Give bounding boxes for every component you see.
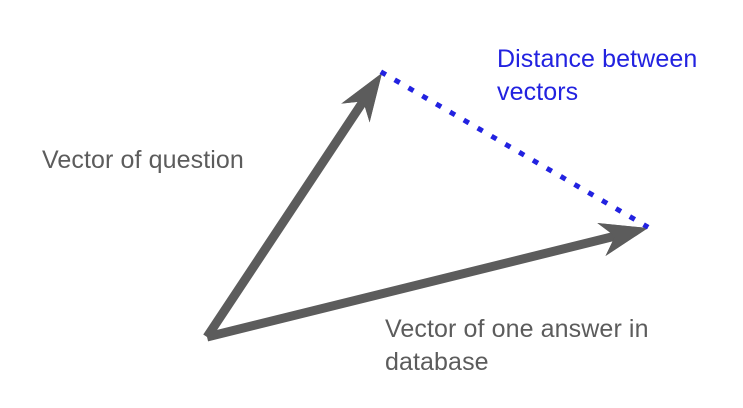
label-distance-between-vectors: Distance between vectors: [497, 43, 721, 108]
vector-question-arrowhead-body: [341, 73, 382, 122]
label-vector-of-question: Vector of question: [42, 144, 244, 177]
label-vector-of-answer: Vector of one answer in database: [385, 313, 685, 378]
diagram-canvas: Vector of question Vector of one answer …: [0, 0, 743, 408]
